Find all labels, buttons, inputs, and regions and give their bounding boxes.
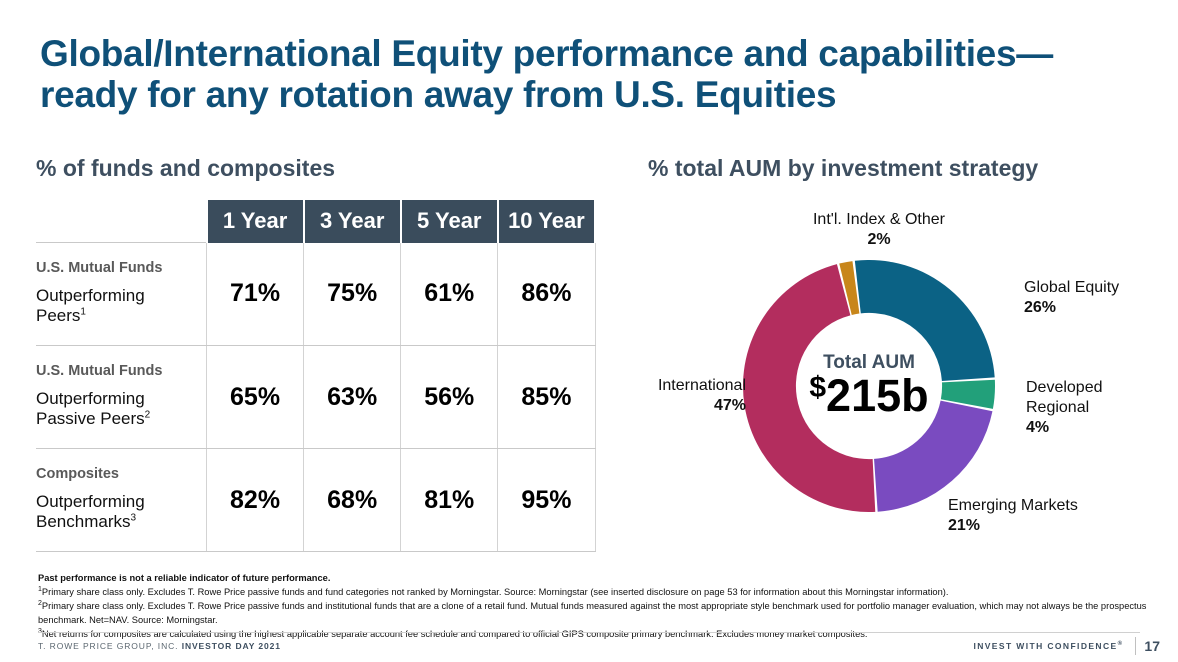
row-sub-label: U.S. Mutual Funds bbox=[36, 364, 206, 380]
footnote-disclaimer: Past performance is not a reliable indic… bbox=[38, 572, 1148, 585]
table-row: Composites Outperforming Benchmarks3 82%… bbox=[36, 449, 595, 552]
row-main-label-line1: Outperforming bbox=[36, 286, 145, 305]
aum-donut-chart: Total AUM $215b Int'l. Index & Other 2% … bbox=[636, 196, 1178, 566]
footer-vertical-rule bbox=[1135, 637, 1136, 655]
slide-footer: T. ROWE PRICE GROUP, INC. INVESTOR DAY 2… bbox=[0, 632, 1178, 662]
footer-company-name: T. ROWE PRICE GROUP, INC. bbox=[38, 641, 182, 651]
slice-name: International bbox=[658, 377, 746, 394]
footer-event-name: INVESTOR DAY 2021 bbox=[182, 641, 281, 651]
donut-slice bbox=[855, 260, 995, 381]
slide: Global/International Equity performance … bbox=[0, 0, 1178, 662]
cell-value: 82% bbox=[207, 449, 304, 552]
cell-value: 68% bbox=[304, 449, 401, 552]
row-footnote-marker: 2 bbox=[145, 410, 151, 421]
slice-label-developed-regional: Developed Regional 4% bbox=[1026, 378, 1166, 438]
footnote-2-text: Primary share class only. Excludes T. Ro… bbox=[38, 602, 1146, 625]
row-label-mutual-funds-passive: U.S. Mutual Funds Outperforming Passive … bbox=[36, 346, 207, 449]
row-footnote-marker: 1 bbox=[80, 307, 86, 318]
cell-value: 56% bbox=[401, 346, 498, 449]
slice-label-global-equity: Global Equity 26% bbox=[1024, 278, 1174, 318]
footer-tagline-text: INVEST WITH CONFIDENCE bbox=[973, 641, 1117, 651]
footer-tagline: INVEST WITH CONFIDENCE® bbox=[973, 641, 1122, 651]
slice-name: Developed Regional bbox=[1026, 379, 1103, 416]
row-main-label-line2: Peers bbox=[36, 306, 80, 325]
cell-value: 65% bbox=[207, 346, 304, 449]
page-title: Global/International Equity performance … bbox=[40, 34, 1150, 115]
slice-label-international: International 47% bbox=[616, 376, 746, 416]
row-sub-label: Composites bbox=[36, 467, 206, 483]
cell-value: 63% bbox=[304, 346, 401, 449]
footnote-2: 2Primary share class only. Excludes T. R… bbox=[38, 599, 1148, 626]
table-corner-cell bbox=[36, 200, 207, 243]
row-sub-label: U.S. Mutual Funds bbox=[36, 261, 206, 277]
column-header-10-year: 10 Year bbox=[498, 200, 595, 243]
page-title-line1: Global/International Equity performance … bbox=[40, 33, 1053, 74]
table-row: U.S. Mutual Funds Outperforming Passive … bbox=[36, 346, 595, 449]
cell-value: 71% bbox=[207, 243, 304, 346]
slice-name: Global Equity bbox=[1024, 279, 1119, 296]
donut-svg bbox=[743, 260, 995, 512]
row-label-composites-benchmarks: Composites Outperforming Benchmarks3 bbox=[36, 449, 207, 552]
slice-value: 26% bbox=[1024, 298, 1174, 318]
column-header-5-year: 5 Year bbox=[401, 200, 498, 243]
footnote-1-text: Primary share class only. Excludes T. Ro… bbox=[42, 587, 949, 597]
column-header-1-year: 1 Year bbox=[207, 200, 304, 243]
cell-value: 86% bbox=[498, 243, 595, 346]
row-main-label-line2: Passive Peers bbox=[36, 409, 145, 428]
slice-value: 2% bbox=[764, 230, 994, 250]
cell-value: 61% bbox=[401, 243, 498, 346]
slice-value: 4% bbox=[1026, 418, 1166, 438]
slice-value: 21% bbox=[948, 516, 1168, 536]
cell-value: 85% bbox=[498, 346, 595, 449]
cell-value: 75% bbox=[304, 243, 401, 346]
footer-company: T. ROWE PRICE GROUP, INC. INVESTOR DAY 2… bbox=[38, 641, 281, 651]
row-main-label: Outperforming Benchmarks3 bbox=[36, 492, 206, 533]
slice-name: Emerging Markets bbox=[948, 497, 1078, 514]
row-main-label-line1: Outperforming bbox=[36, 492, 145, 511]
page-number: 17 bbox=[1144, 638, 1160, 654]
slice-label-intl-index-other: Int'l. Index & Other 2% bbox=[764, 210, 994, 250]
cell-value: 81% bbox=[401, 449, 498, 552]
footnotes: Past performance is not a reliable indic… bbox=[38, 572, 1148, 641]
footer-divider bbox=[38, 632, 1140, 633]
right-section-heading: % total AUM by investment strategy bbox=[648, 155, 1038, 182]
left-section-heading: % of funds and composites bbox=[36, 155, 335, 182]
row-main-label: Outperforming Peers1 bbox=[36, 286, 206, 327]
slice-label-emerging-markets: Emerging Markets 21% bbox=[948, 496, 1168, 536]
row-main-label-line2: Benchmarks bbox=[36, 512, 130, 531]
registered-mark-icon: ® bbox=[1118, 641, 1122, 647]
table-row: U.S. Mutual Funds Outperforming Peers1 7… bbox=[36, 243, 595, 346]
row-main-label-line1: Outperforming bbox=[36, 389, 145, 408]
row-label-mutual-funds-peers: U.S. Mutual Funds Outperforming Peers1 bbox=[36, 243, 207, 346]
slice-name: Int'l. Index & Other bbox=[813, 211, 945, 228]
page-title-line2: ready for any rotation away from U.S. Eq… bbox=[40, 75, 1150, 116]
column-header-3-year: 3 Year bbox=[304, 200, 401, 243]
slice-value: 47% bbox=[616, 396, 746, 416]
performance-table: 1 Year 3 Year 5 Year 10 Year U.S. Mutual… bbox=[36, 200, 596, 552]
footnote-1: 1Primary share class only. Excludes T. R… bbox=[38, 585, 1148, 599]
row-main-label: Outperforming Passive Peers2 bbox=[36, 389, 206, 430]
cell-value: 95% bbox=[498, 449, 595, 552]
table-header-row: 1 Year 3 Year 5 Year 10 Year bbox=[36, 200, 595, 243]
row-footnote-marker: 3 bbox=[130, 513, 136, 524]
